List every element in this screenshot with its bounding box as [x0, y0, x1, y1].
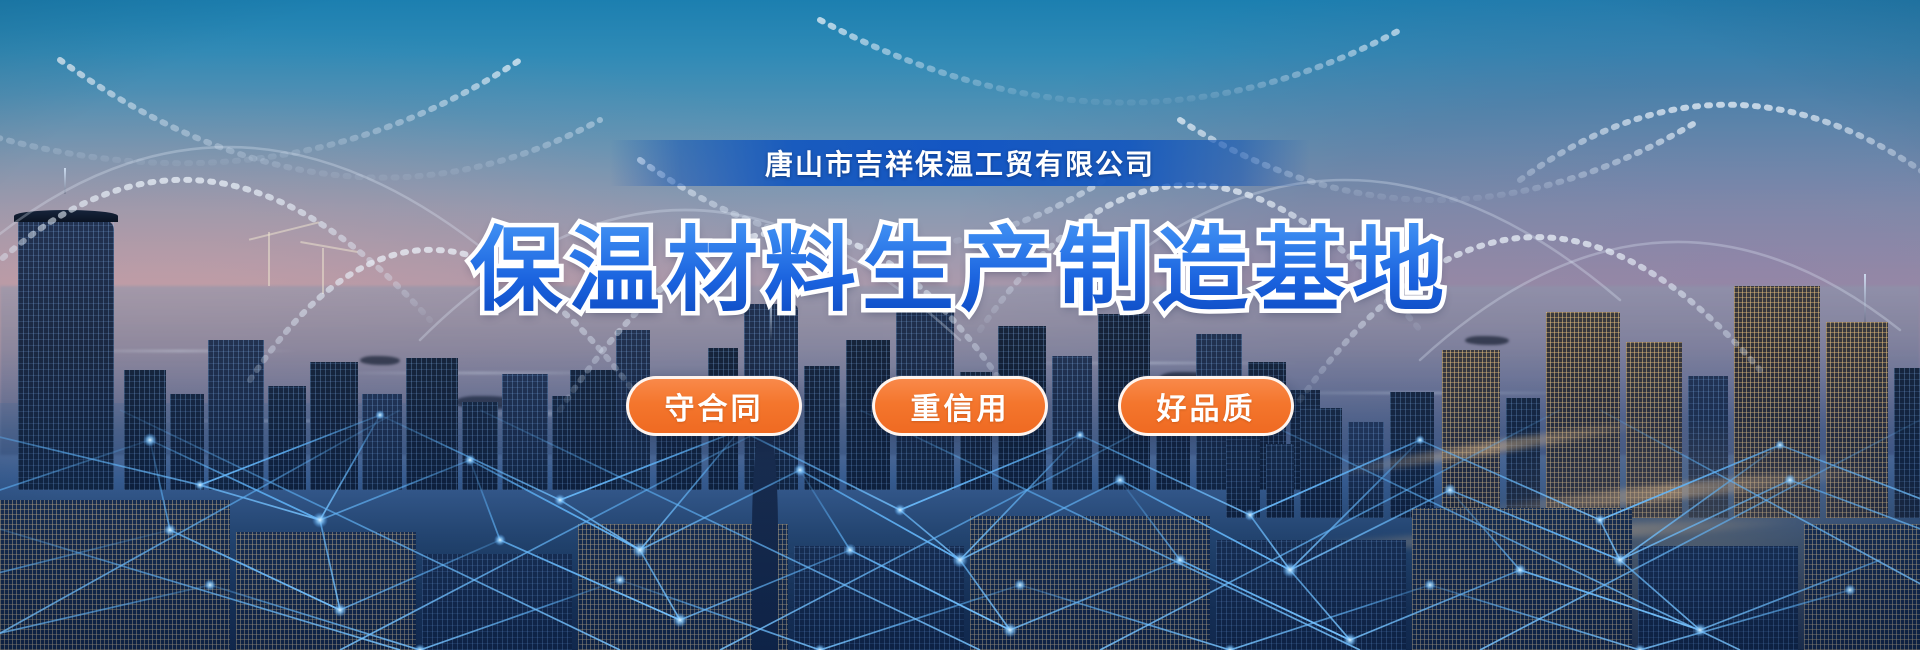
- badge-value-credit[interactable]: 重信用: [872, 376, 1048, 436]
- badge-group: 守合同 重信用 好品质: [626, 376, 1294, 436]
- headline-text: 保温材料生产制造基地: [470, 196, 1450, 329]
- company-name: 唐山市吉祥保温工贸有限公司: [765, 143, 1155, 183]
- badge-label: 好品质: [1157, 384, 1256, 428]
- badge-label: 守合同: [665, 384, 764, 428]
- hero-banner: 唐山市吉祥保温工贸有限公司 保温材料生产制造基地 保温材料生产制造基地 守合同 …: [0, 0, 1920, 650]
- company-name-ribbon: 唐山市吉祥保温工贸有限公司: [610, 140, 1310, 186]
- banner-content: 唐山市吉祥保温工贸有限公司 保温材料生产制造基地 保温材料生产制造基地 守合同 …: [0, 0, 1920, 650]
- badge-good-quality[interactable]: 好品质: [1118, 376, 1294, 436]
- headline-block: 保温材料生产制造基地 保温材料生产制造基地: [470, 196, 1450, 329]
- badge-keep-contract[interactable]: 守合同: [626, 376, 802, 436]
- badge-label: 重信用: [911, 384, 1010, 428]
